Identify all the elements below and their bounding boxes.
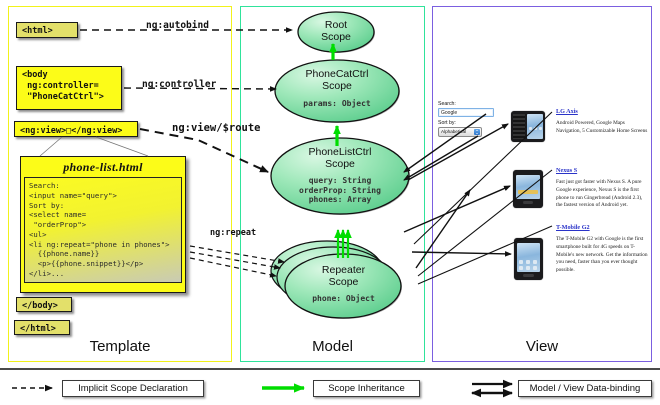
- scope-phonecatctrl: PhoneCatCtrl Scope params: Object: [272, 58, 402, 124]
- diagram-canvas: <html> <body ng:controller= "PhoneCatCtr…: [0, 0, 660, 405]
- html-close-tag: </html>: [14, 320, 70, 335]
- wire-label-ng-controller: ng:controller: [142, 79, 216, 90]
- body-open-tag: <body ng:controller= "PhoneCatCtrl">: [16, 66, 122, 110]
- scope-phonecatctrl-props: params: Object: [272, 99, 402, 109]
- wire-label-ng-view-route: ng:view/$route: [172, 122, 261, 134]
- scope-phonelistctrl-title: PhoneListCtrl Scope: [268, 147, 412, 171]
- callout-title: phone-list.html: [21, 157, 185, 177]
- view-sort-select[interactable]: Alphabetical: [438, 127, 482, 137]
- phone-snippet-2: Fast just got faster with Nexus S. A pur…: [556, 179, 648, 210]
- wire-label-ng-repeat: ng:repeat: [210, 228, 256, 238]
- phone-link-2[interactable]: Nexus S: [556, 167, 577, 174]
- phone-link-1[interactable]: LG Axis: [556, 108, 578, 115]
- ngview-tag: <ng:view>□</ng:view>: [14, 121, 138, 137]
- view-sort-label: Sort by:: [438, 120, 456, 126]
- phone-thumbnail-3: [514, 238, 543, 280]
- scope-root-title: Root Scope: [296, 20, 376, 44]
- phone-thumbnail-2: [513, 170, 543, 208]
- legend-item-model-view-data-binding: Model / View Data-binding: [518, 380, 652, 397]
- scope-phonelistctrl: PhoneListCtrl Scope query: String orderP…: [268, 136, 412, 216]
- callout-code: Search: <input name="query"> Sort by: <s…: [24, 177, 182, 283]
- legend-item-implicit-scope-declaration: Implicit Scope Declaration: [62, 380, 204, 397]
- html-open-tag: <html>: [16, 22, 78, 38]
- view-search-input[interactable]: Google: [438, 108, 494, 117]
- view-sort-select-value: Alphabetical: [441, 129, 466, 134]
- wire-label-ng-autobind: ng:autobind: [146, 20, 209, 31]
- column-label-view: View: [432, 338, 652, 355]
- scope-phonecatctrl-title: PhoneCatCtrl Scope: [272, 69, 402, 93]
- column-label-template: Template: [8, 338, 232, 355]
- phone-snippet-3: The T-Mobile G2 with Google is the first…: [556, 236, 648, 275]
- legend-item-scope-inheritance: Scope Inheritance: [313, 380, 420, 397]
- phone-snippet-1: Android Powered, Google Maps Navigation,…: [556, 120, 648, 136]
- scope-root: Root Scope: [296, 10, 376, 54]
- phone-thumbnail-1: [511, 111, 545, 142]
- chevron-updown-icon: [474, 129, 480, 135]
- scope-repeater: Repeater Scope phone: Object: [266, 237, 416, 325]
- legend: Implicit Scope Declaration Scope Inherit…: [0, 368, 660, 405]
- scope-repeater-props: phone: Object: [286, 294, 401, 304]
- phone-link-3[interactable]: T-Mobile G2: [556, 224, 590, 231]
- phone-list-callout: phone-list.html Search: <input name="que…: [20, 156, 186, 293]
- view-search-label: Search:: [438, 101, 456, 107]
- scope-phonelistctrl-props: query: String orderProp: String phones: …: [268, 176, 412, 205]
- body-close-tag: </body>: [16, 297, 72, 312]
- column-label-model: Model: [240, 338, 425, 355]
- scope-repeater-title: Repeater Scope: [286, 265, 401, 289]
